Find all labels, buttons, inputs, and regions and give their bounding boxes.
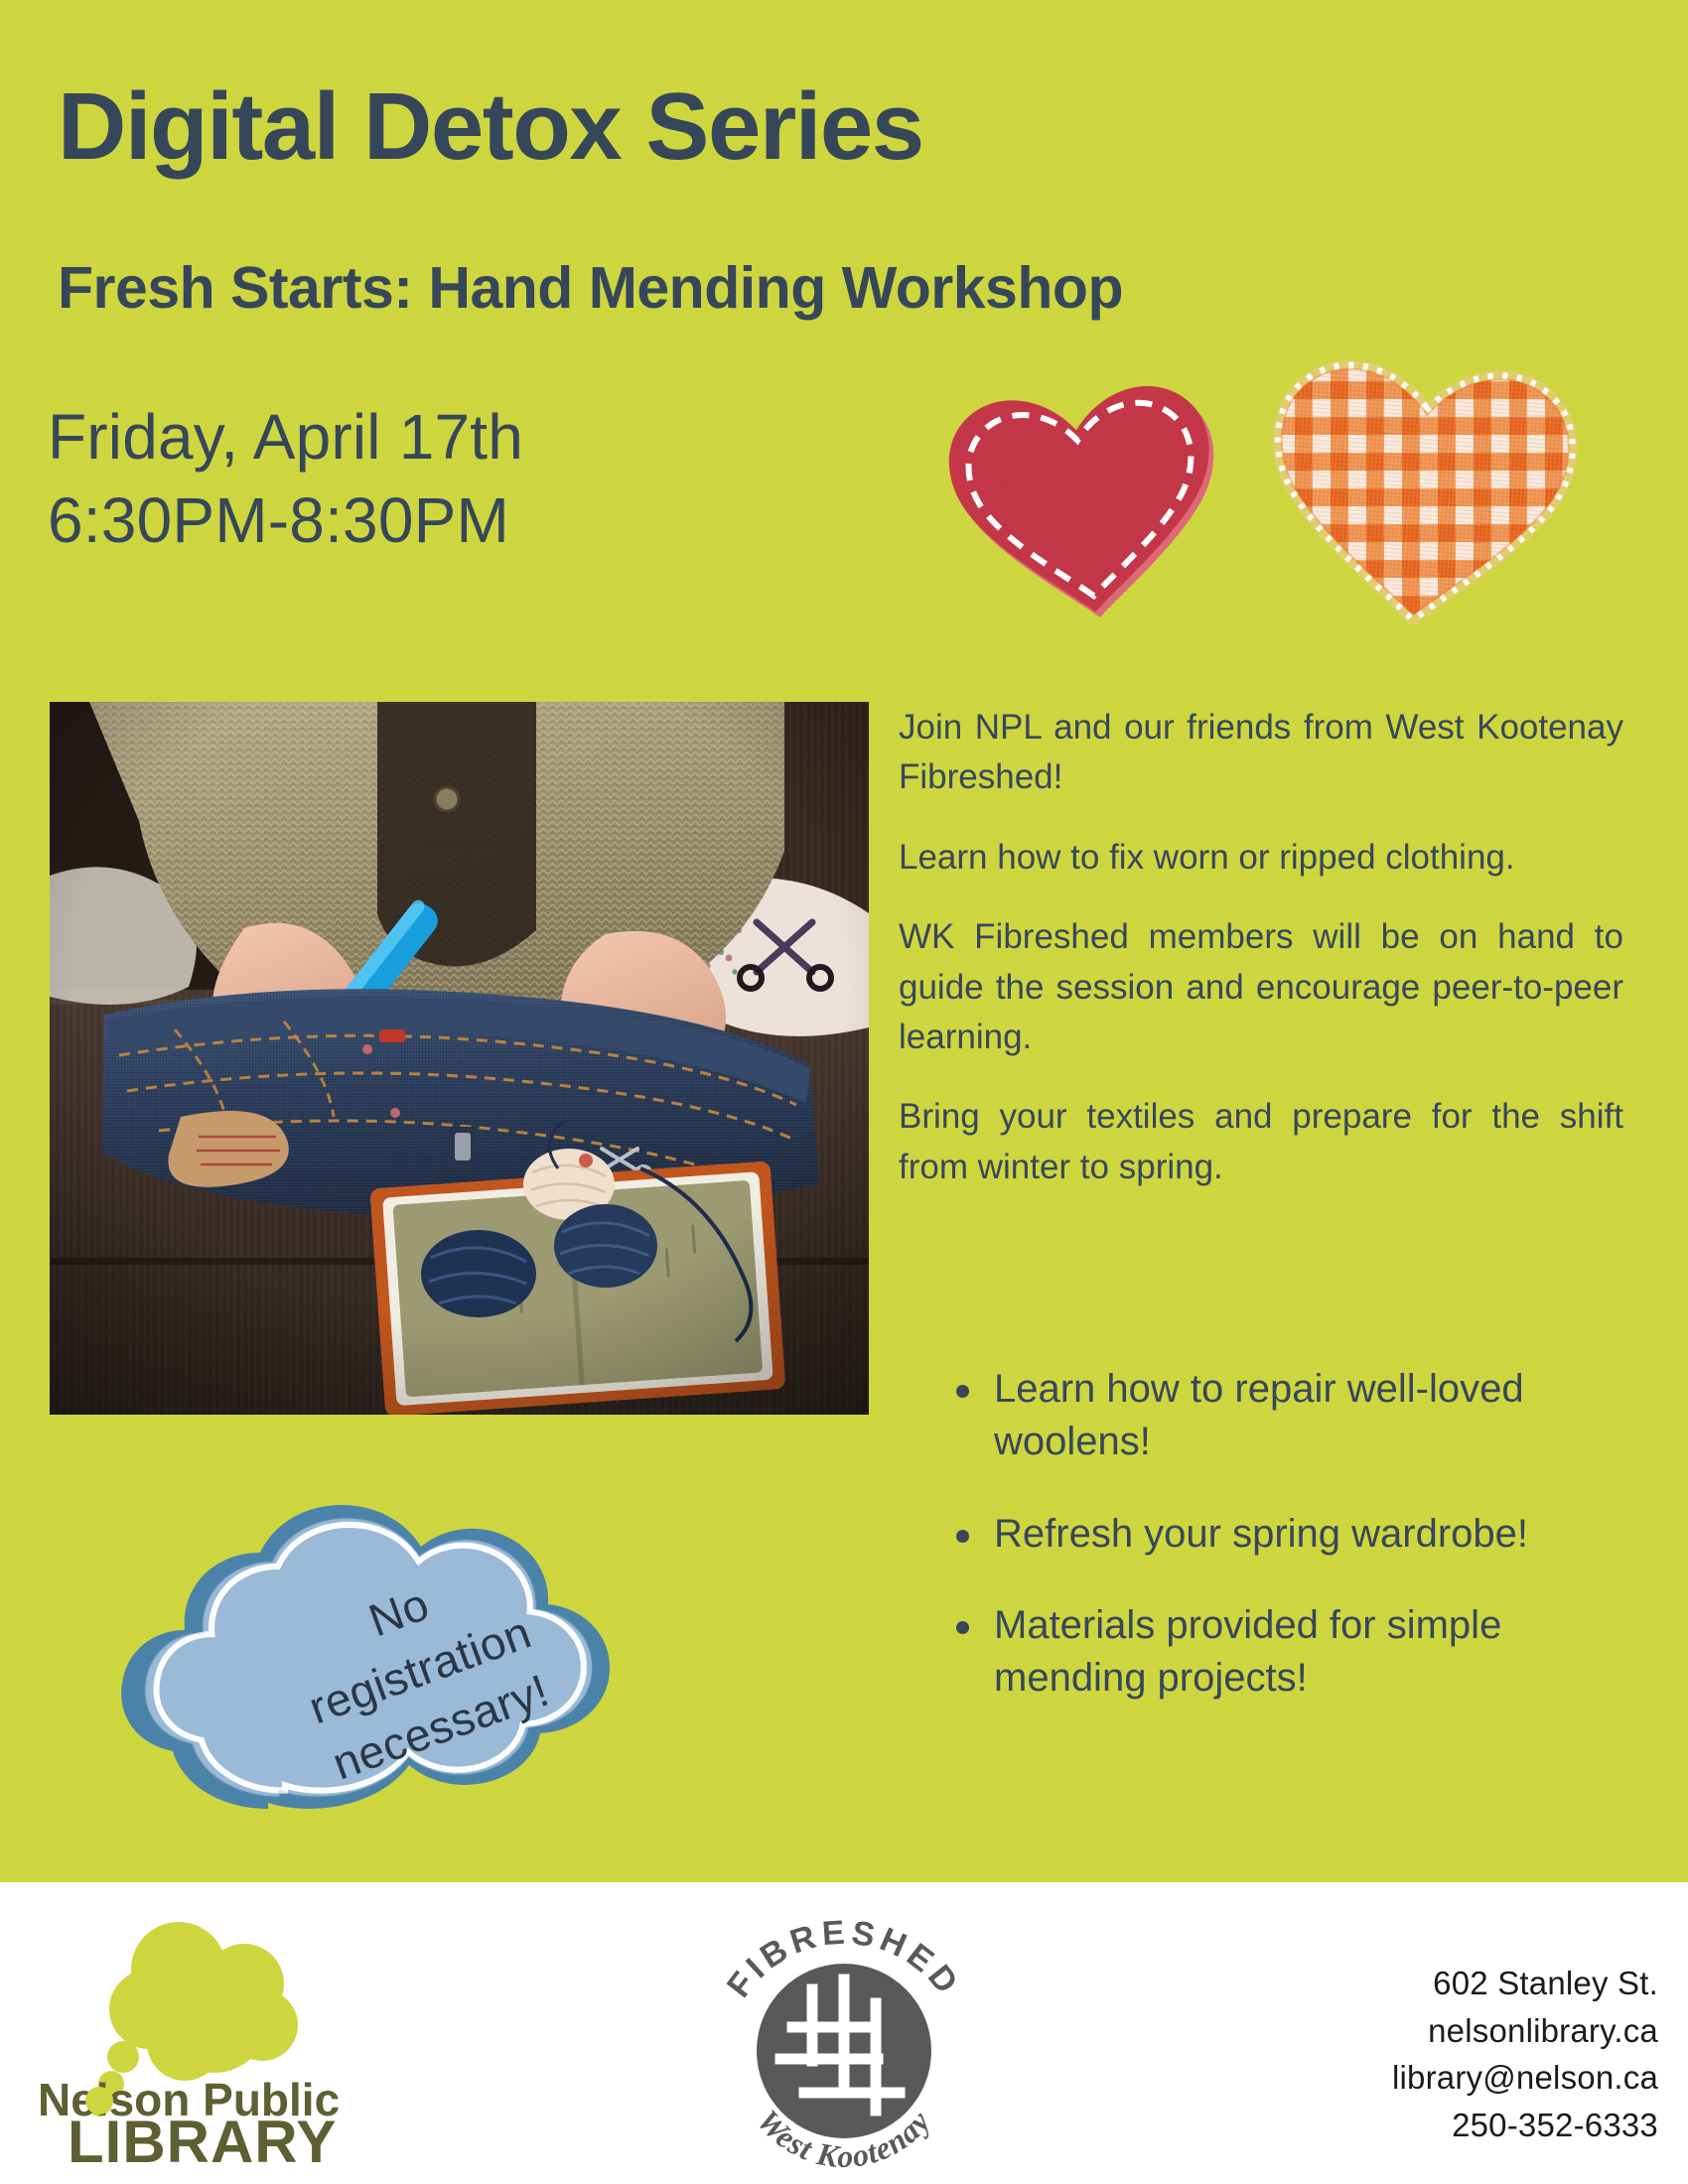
page-title: Digital Detox Series [58, 77, 1448, 178]
contact-email[interactable]: library@nelson.ca [1231, 2054, 1658, 2102]
event-datetime: Friday, April 17th 6:30PM-8:30PM [48, 395, 802, 563]
contact-address: 602 Stanley St. [1231, 1960, 1658, 2007]
library-logo-line2: LIBRARY [68, 2109, 337, 2170]
body-paragraph: Learn how to fix worn or ripped clothing… [899, 833, 1623, 883]
contact-info: 602 Stanley St. nelsonlibrary.ca library… [1231, 1960, 1658, 2148]
footer: Nelson Public LIBRARY [0, 1882, 1688, 2184]
contact-phone[interactable]: 250-352-6333 [1231, 2102, 1658, 2149]
gingham-fabric-heart-icon [1249, 317, 1597, 636]
event-date: Friday, April 17th [48, 395, 802, 478]
highlights-list: Learn how to repair well-loved woolens! … [948, 1363, 1643, 1705]
body-paragraph: WK Fibreshed members will be on hand to … [899, 912, 1623, 1062]
contact-website[interactable]: nelsonlibrary.ca [1231, 2007, 1658, 2055]
red-felt-heart-icon [925, 339, 1240, 635]
poster-root: Digital Detox Series Fresh Starts: Hand … [0, 0, 1688, 2184]
event-time: 6:30PM-8:30PM [48, 478, 802, 562]
nelson-public-library-logo: Nelson Public LIBRARY [20, 1902, 377, 2170]
fibreshed-west-kootenay-logo: FIBRESHED West Kootenay [695, 1894, 993, 2184]
workshop-photo [50, 702, 869, 1415]
page-subtitle: Fresh Starts: Hand Mending Workshop [58, 256, 1527, 321]
list-item: Refresh your spring wardrobe! [948, 1508, 1643, 1561]
body-paragraph: Bring your textiles and prepare for the … [899, 1092, 1623, 1192]
body-copy: Join NPL and our friends from West Koote… [899, 703, 1623, 1192]
list-item: Materials provided for simple mending pr… [948, 1599, 1643, 1705]
body-paragraph: Join NPL and our friends from West Koote… [899, 703, 1623, 803]
list-item: Learn how to repair well-loved woolens! [948, 1363, 1643, 1468]
no-registration-cloud-badge: No registration necessary! [119, 1469, 685, 1856]
